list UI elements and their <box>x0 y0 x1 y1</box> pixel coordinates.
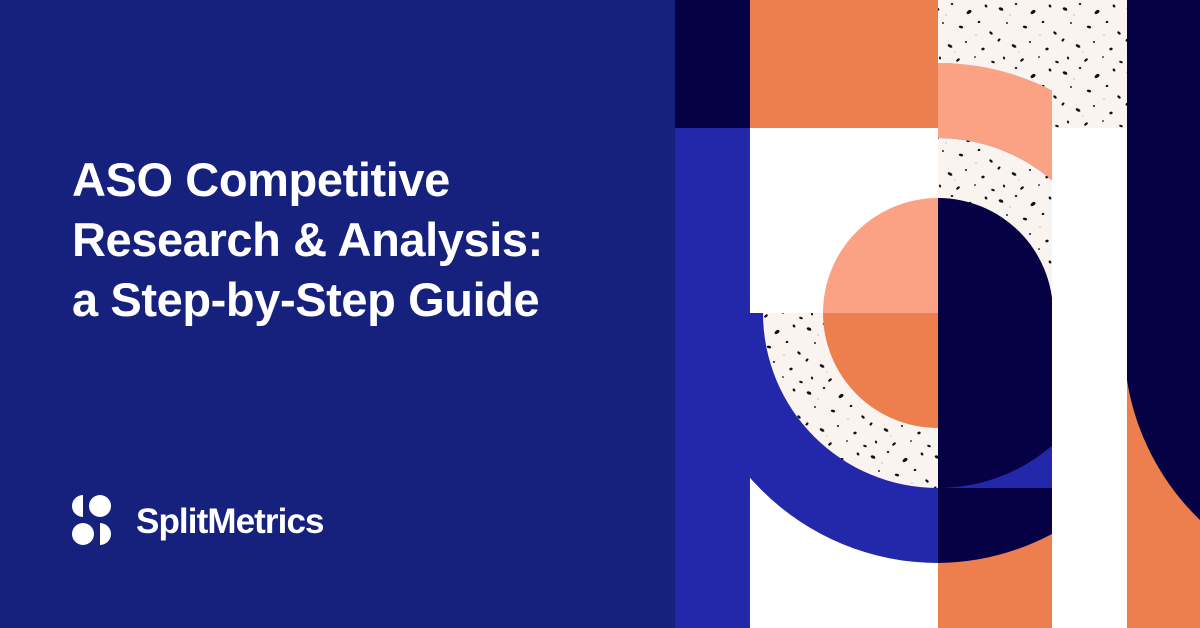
white-strip-bottom-right <box>1052 128 1127 628</box>
social-card-canvas: ASO Competitive Research & Analysis: a S… <box>0 0 1200 628</box>
brand-wordmark: SplitMetrics <box>136 504 324 539</box>
circle-bottom-left-icon <box>72 523 94 545</box>
center-circle-split <box>823 198 1053 428</box>
page-title: ASO Competitive Research & Analysis: a S… <box>72 150 642 330</box>
half-circle-right-icon <box>100 523 111 545</box>
text-panel: ASO Competitive Research & Analysis: a S… <box>0 0 675 628</box>
navy-block-top-left-restore <box>675 0 750 128</box>
bright-blue-column-restore <box>675 128 750 313</box>
circle-top-right-icon <box>89 495 111 517</box>
brand-logo[interactable]: SplitMetrics <box>72 495 324 547</box>
splitmetrics-dots-icon <box>72 495 118 547</box>
artwork-svg <box>675 0 1200 628</box>
orange-block-top-restore <box>750 0 938 128</box>
artwork-panel <box>675 0 1200 628</box>
half-circle-left-icon <box>72 495 83 517</box>
speckled-corner-detail <box>1052 0 1127 128</box>
